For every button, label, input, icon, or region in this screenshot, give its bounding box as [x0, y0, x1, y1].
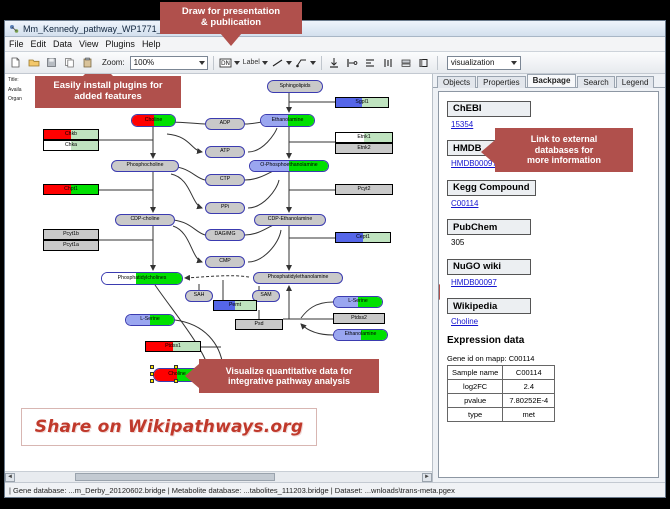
chevron-down-icon	[199, 61, 205, 65]
metabolite-node[interactable]: Phosphatidylethanolamine	[253, 272, 343, 284]
line-tool[interactable]	[271, 57, 292, 69]
table-row: typemet	[448, 408, 555, 422]
db-section-title: Wikipedia	[447, 298, 531, 314]
tab-objects[interactable]: Objects	[437, 76, 476, 88]
datanode-tool[interactable]: DN	[219, 57, 240, 69]
exp-value: 2.4	[503, 380, 555, 394]
selection-handle[interactable]	[150, 365, 154, 369]
interaction-tool[interactable]	[295, 57, 316, 69]
plugins-callout-line2: added features	[74, 92, 142, 103]
metabolite-node[interactable]: Sphingolipids	[267, 80, 323, 93]
visualization-value: visualization	[451, 58, 495, 67]
main-split: Title: Availa Organ	[5, 74, 665, 482]
table-row: log2FC2.4	[448, 380, 555, 394]
toolbar-separator	[213, 56, 214, 70]
expression-data-heading: Expression data	[447, 335, 650, 346]
tab-legend[interactable]: Legend	[616, 76, 655, 88]
pathvisio-window: Mm_Kennedy_pathway_WP1771_45176.gpml Fil…	[4, 20, 666, 498]
backpage-content[interactable]: ChEBI15354HMDBHMDB00097Kegg CompoundC001…	[438, 91, 659, 478]
status-bar: | Gene database: ...m_Derby_20120602.bri…	[5, 482, 665, 497]
metabolite-node[interactable]: CDP-Ethanolamine	[254, 214, 326, 226]
scroll-thumb[interactable]	[75, 473, 275, 481]
gene-node[interactable]: Chkb	[43, 129, 99, 140]
metabolite-node[interactable]: Phosphocholine	[111, 160, 179, 172]
chevron-down-icon	[262, 61, 268, 65]
zoom-combobox[interactable]: 100%	[130, 56, 208, 70]
gene-node[interactable]: Pcyt1a	[43, 240, 99, 251]
metabolite-node[interactable]: L-Serine	[333, 296, 383, 308]
new-file-icon[interactable]	[8, 55, 23, 70]
visualization-combobox[interactable]: visualization	[447, 56, 521, 70]
chevron-down-icon	[234, 61, 240, 65]
gene-node[interactable]: Cept1	[335, 232, 391, 243]
scroll-left-arrow[interactable]: ◄	[5, 473, 15, 482]
gene-node[interactable]: Ptdss1	[145, 341, 201, 352]
title-bar: Mm_Kennedy_pathway_WP1771_45176.gpml	[5, 21, 665, 37]
metabolite-node[interactable]: DAG/MG	[205, 229, 245, 241]
metabolite-node[interactable]: CTP	[205, 174, 245, 186]
exp-value: met	[503, 408, 555, 422]
save-icon[interactable]	[44, 55, 59, 70]
link-callout-arrow	[481, 140, 495, 164]
metabolite-node[interactable]: O-Phosphoethanolamine	[249, 160, 329, 172]
metabolite-node[interactable]: ATP	[205, 146, 245, 158]
align-left-icon[interactable]	[345, 55, 360, 70]
draw-callout-arrow	[220, 33, 242, 46]
gene-node[interactable]: Etnk2	[335, 143, 393, 154]
tab-search[interactable]: Search	[577, 76, 614, 88]
exp-key: log2FC	[448, 380, 503, 394]
link-callout-line1: Link to external	[531, 134, 598, 144]
db-section-title: Kegg Compound	[447, 180, 536, 196]
visualize-callout-arrow	[185, 364, 199, 388]
table-row: Sample nameC00114	[448, 366, 555, 380]
db-section-title: NuGO wiki	[447, 259, 531, 275]
menu-help[interactable]: Help	[142, 39, 161, 49]
menu-edit[interactable]: Edit	[31, 39, 47, 49]
gene-node[interactable]: Sgpl1	[335, 97, 389, 108]
selection-handle[interactable]	[150, 379, 154, 383]
scroll-right-arrow[interactable]: ►	[422, 473, 432, 482]
label-tool[interactable]: Label	[243, 59, 268, 66]
tab-backpage[interactable]: Backpage	[527, 74, 577, 87]
gene-node[interactable]: Chpt1	[43, 184, 99, 195]
plugins-callout: Easily install plugins for added feature…	[35, 76, 181, 108]
selection-handle[interactable]	[150, 372, 154, 376]
exp-value: 7.80252E-4	[503, 394, 555, 408]
gene-id-line: Gene id on mapp: C00114	[447, 354, 650, 363]
metabolite-node[interactable]: SAH	[185, 290, 213, 302]
db-section-title: ChEBI	[447, 101, 531, 117]
chevron-down-icon	[511, 61, 517, 65]
gene-node[interactable]: Pemt	[213, 300, 257, 311]
menu-bar: File Edit Data View Plugins Help	[5, 37, 665, 52]
menu-data[interactable]: Data	[53, 39, 72, 49]
metabolite-node[interactable]: CMP	[205, 256, 245, 268]
open-folder-icon[interactable]	[26, 55, 41, 70]
selection-handle[interactable]	[174, 365, 178, 369]
side-panel-tabs: ObjectsPropertiesBackpageSearchLegend	[433, 74, 665, 88]
zoom-label: Zoom:	[102, 58, 125, 67]
metabolite-node[interactable]: L-Serine	[125, 314, 175, 326]
meta-organism: Organ	[8, 95, 22, 105]
visualize-callout-line1: Visualize quantitative data for	[226, 366, 353, 376]
draw-callout-line2: & publication	[201, 18, 261, 29]
toolbar-separator	[321, 56, 322, 70]
svg-text:DN: DN	[221, 60, 230, 67]
metabolite-node[interactable]: Ethanolamine	[260, 114, 315, 127]
gene-node[interactable]: Pcyt2	[335, 184, 393, 195]
exp-value: C00114	[503, 366, 555, 380]
metabolite-node[interactable]: Choline	[131, 114, 176, 127]
selection-handle[interactable]	[174, 379, 178, 383]
menu-view[interactable]: View	[79, 39, 98, 49]
status-text: | Gene database: ...m_Derby_20120602.bri…	[9, 486, 455, 495]
link-callout: Link to external databases for more info…	[495, 128, 633, 172]
exp-key: type	[448, 408, 503, 422]
db-section-title: PubChem	[447, 219, 531, 235]
chevron-down-icon	[310, 61, 316, 65]
metabolite-node[interactable]: Ethanolamine	[333, 329, 388, 341]
menu-plugins[interactable]: Plugins	[105, 39, 135, 49]
menu-file[interactable]: File	[9, 39, 24, 49]
exp-key: Sample name	[448, 366, 503, 380]
stack-icon[interactable]	[399, 55, 414, 70]
align-columns-icon[interactable]	[381, 55, 396, 70]
db-external-link[interactable]: Choline	[451, 317, 650, 326]
expression-table: Sample nameC00114log2FC2.4pvalue7.80252E…	[447, 365, 555, 422]
link-callout-arrow-lower	[438, 284, 440, 300]
tab-properties[interactable]: Properties	[477, 76, 525, 88]
canvas-hscrollbar[interactable]: ◄ ►	[5, 471, 432, 482]
metabolite-node[interactable]: ADP	[205, 118, 245, 130]
zoom-value: 100%	[134, 58, 154, 67]
visualize-callout: Visualize quantitative data for integrat…	[199, 359, 379, 393]
draw-callout: Draw for presentation & publication	[160, 2, 302, 34]
db-value: 305	[451, 238, 650, 247]
exp-key: pvalue	[448, 394, 503, 408]
share-banner-text: Share on Wikipathways.org	[35, 417, 303, 437]
metabolite-node[interactable]: Phosphatidylcholines	[101, 272, 183, 285]
meta-title: Title:	[8, 76, 22, 86]
chevron-down-icon	[286, 61, 292, 65]
side-panel: ObjectsPropertiesBackpageSearchLegend Ch…	[433, 74, 665, 482]
label-tool-caption: Label	[243, 59, 260, 66]
visualize-callout-line2: integrative pathway analysis	[228, 376, 350, 386]
align-top-icon[interactable]	[327, 55, 342, 70]
group-icon[interactable]	[417, 55, 432, 70]
paste-icon[interactable]	[80, 55, 95, 70]
pathvisio-app-icon	[9, 24, 19, 34]
gene-node[interactable]: Psd	[235, 319, 283, 330]
gene-node[interactable]: Ptdss2	[333, 313, 385, 324]
gene-node[interactable]: Chka	[43, 140, 99, 151]
share-banner: Share on Wikipathways.org	[21, 408, 317, 446]
db-external-link[interactable]: C00114	[451, 199, 650, 208]
gene-node[interactable]: Etnk1	[335, 132, 393, 143]
db-external-link[interactable]: HMDB00097	[451, 278, 650, 287]
toolbar: Zoom: 100% DN Label	[5, 52, 665, 74]
link-callout-line2: databases for	[535, 145, 594, 155]
metabolite-node[interactable]: PPi	[205, 202, 245, 214]
link-callout-line3: more information	[527, 155, 601, 165]
align-rows-icon[interactable]	[363, 55, 378, 70]
metabolite-node[interactable]: CDP-choline	[115, 214, 175, 226]
pathway-canvas[interactable]: Title: Availa Organ	[5, 74, 433, 482]
table-row: pvalue7.80252E-4	[448, 394, 555, 408]
copy-icon[interactable]	[62, 55, 77, 70]
pathway-meta: Title: Availa Organ	[8, 76, 22, 105]
gene-node[interactable]: Pcyt1b	[43, 229, 99, 240]
toolbar-separator	[437, 56, 438, 70]
plugins-callout-arrow	[83, 74, 113, 76]
meta-availability: Availa	[8, 86, 22, 96]
